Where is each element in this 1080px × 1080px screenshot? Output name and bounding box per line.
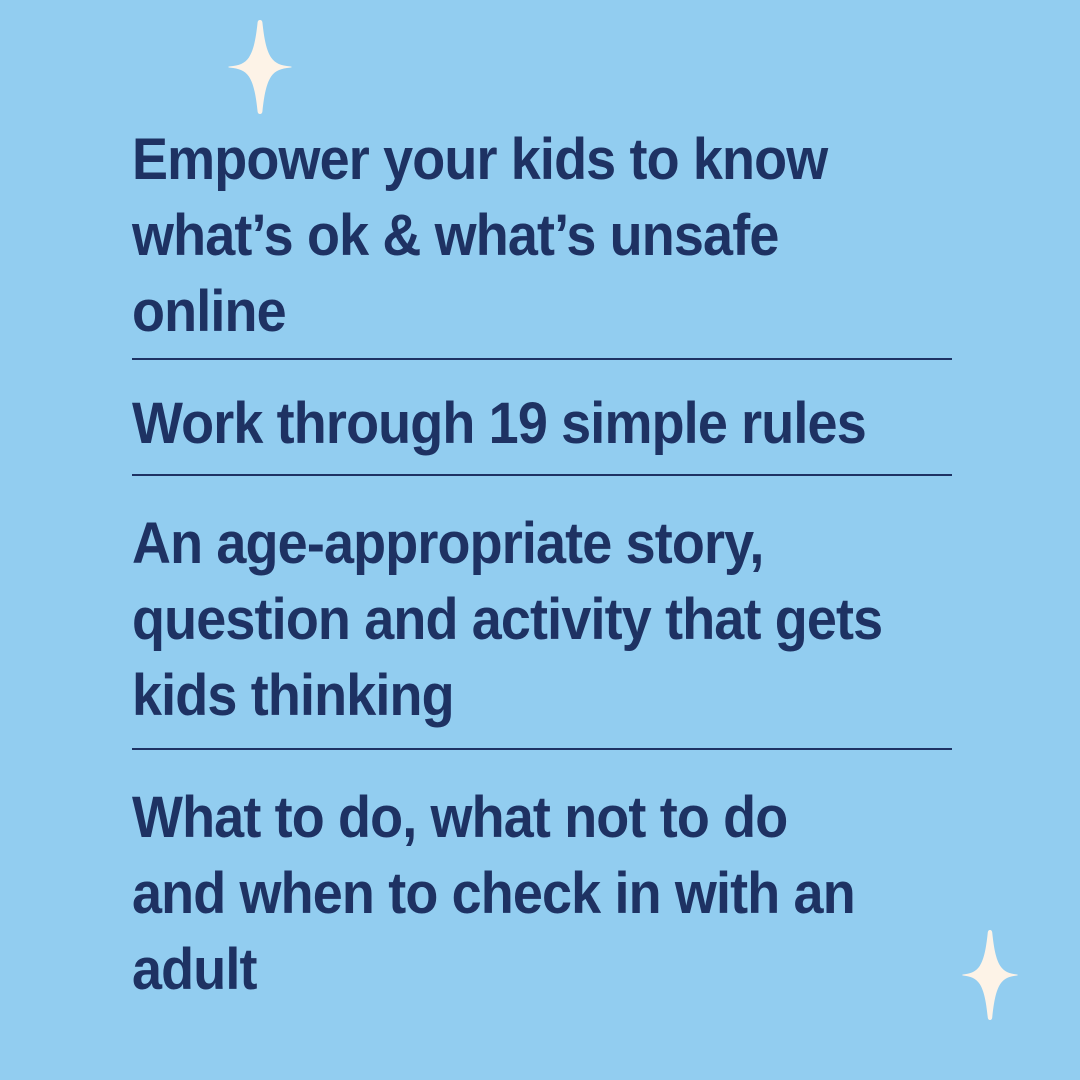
benefit-item: Work through 19 simple rules <box>132 360 952 474</box>
benefit-item: Empower your kids to know what’s ok & wh… <box>132 122 952 358</box>
benefits-list: Empower your kids to know what’s ok & wh… <box>132 122 952 1008</box>
benefit-text: Empower your kids to know what’s ok & wh… <box>132 122 895 350</box>
benefit-item: What to do, what not to do and when to c… <box>132 750 952 1008</box>
benefit-text: An age-appropriate story, question and a… <box>132 506 895 734</box>
promo-card: Empower your kids to know what’s ok & wh… <box>0 0 1080 1080</box>
benefit-text: Work through 19 simple rules <box>132 386 895 462</box>
sparkle-top-left-icon <box>228 20 292 114</box>
sparkle-bottom-right-icon <box>962 930 1018 1020</box>
benefit-item: An age-appropriate story, question and a… <box>132 476 952 748</box>
benefit-text: What to do, what not to do and when to c… <box>132 780 895 1008</box>
